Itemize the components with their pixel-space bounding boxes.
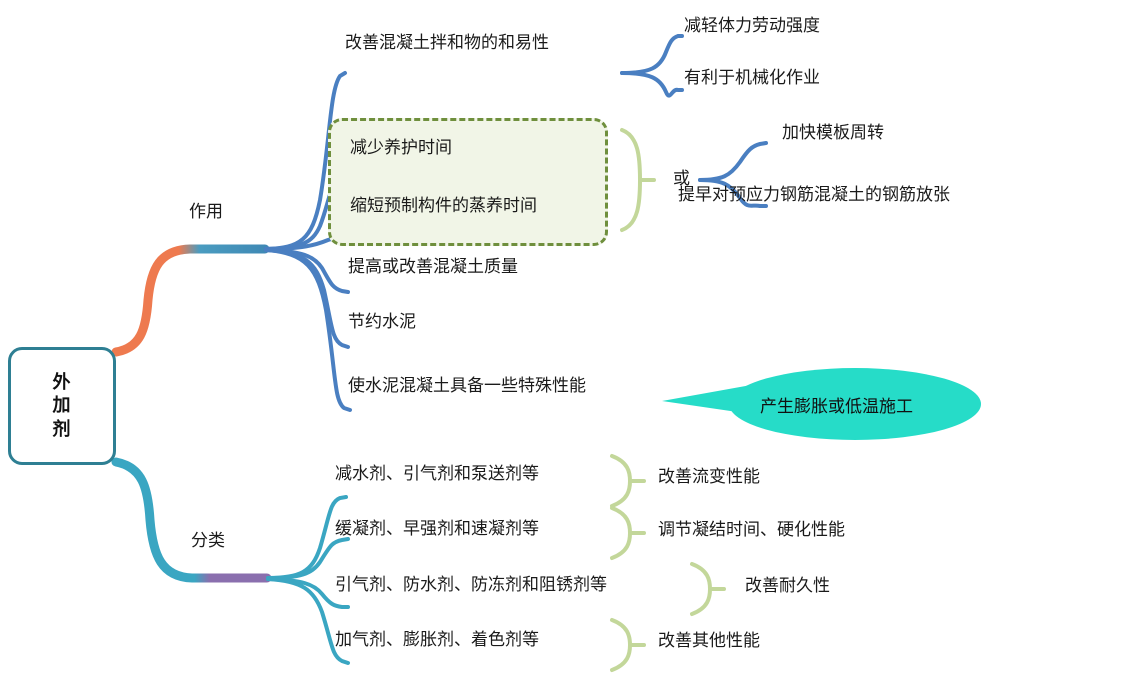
branch-label-classification[interactable]: 分类	[191, 532, 225, 551]
connector-function-child-5	[266, 250, 348, 347]
node-reduce-curing-time[interactable]: 减少养护时间	[350, 139, 452, 158]
mindmap-canvas: 外 加 剂 作用 分类 改善混凝土拌和物的和易性 减少养护时间 缩短预制构件的蒸…	[0, 0, 1121, 675]
node-class-2-agents[interactable]: 缓凝剂、早强剂和速凝剂等	[335, 520, 539, 539]
node-class-1-effect[interactable]: 改善流变性能	[658, 468, 760, 487]
node-class-4-effect[interactable]: 改善其他性能	[658, 632, 760, 651]
root-char-2: 加	[53, 394, 72, 417]
brace-class-4	[612, 620, 630, 670]
callout-label[interactable]: 产生膨胀或低温施工	[760, 392, 913, 417]
connector-workability-child-1	[622, 36, 682, 73]
node-mechanized-work[interactable]: 有利于机械化作业	[684, 69, 820, 88]
brace-class-1	[612, 456, 630, 506]
root-char-1: 外	[53, 371, 72, 394]
connector-function-child-4	[266, 250, 348, 292]
node-class-3-agents[interactable]: 引气剂、防水剂、防冻剂和阻锈剂等	[335, 576, 607, 595]
node-class-3-effect[interactable]: 改善耐久性	[745, 577, 830, 596]
connector-root-to-function	[116, 249, 265, 352]
brace-class-2	[612, 508, 630, 558]
node-improve-quality[interactable]: 提高或改善混凝土质量	[348, 258, 518, 277]
connector-root-to-classification	[116, 462, 267, 578]
node-prestress-release[interactable]: 提早对预应力钢筋混凝土的钢筋放张	[678, 186, 950, 205]
node-class-4-agents[interactable]: 加气剂、膨胀剂、着色剂等	[335, 631, 539, 650]
branch-label-function[interactable]: 作用	[189, 203, 223, 222]
connector-class-child-2	[268, 539, 348, 578]
connector-function-child-6	[266, 250, 350, 410]
node-class-1-agents[interactable]: 减水剂、引气剂和泵送剂等	[335, 465, 539, 484]
connector-workability-child-2	[622, 73, 682, 96]
node-workability[interactable]: 改善混凝土拌和物的和易性	[345, 34, 549, 53]
node-shorten-steam-curing[interactable]: 缩短预制构件的蒸养时间	[350, 197, 537, 216]
node-class-2-effect[interactable]: 调节凝结时间、硬化性能	[658, 521, 845, 540]
node-formwork-turnover[interactable]: 加快模板周转	[782, 124, 884, 143]
root-char-3: 剂	[53, 418, 72, 441]
root-node-label: 外 加 剂	[11, 350, 113, 462]
brace-class-3	[692, 564, 710, 614]
connector-layer	[0, 0, 1121, 675]
node-reduce-labor[interactable]: 减轻体力劳动强度	[684, 17, 820, 36]
root-node[interactable]: 外 加 剂	[8, 347, 116, 465]
node-special-properties[interactable]: 使水泥混凝土具备一些特殊性能	[348, 377, 586, 396]
connector-or-child-1	[700, 143, 766, 180]
node-save-cement[interactable]: 节约水泥	[348, 313, 416, 332]
brace-dashed-group	[622, 130, 640, 230]
